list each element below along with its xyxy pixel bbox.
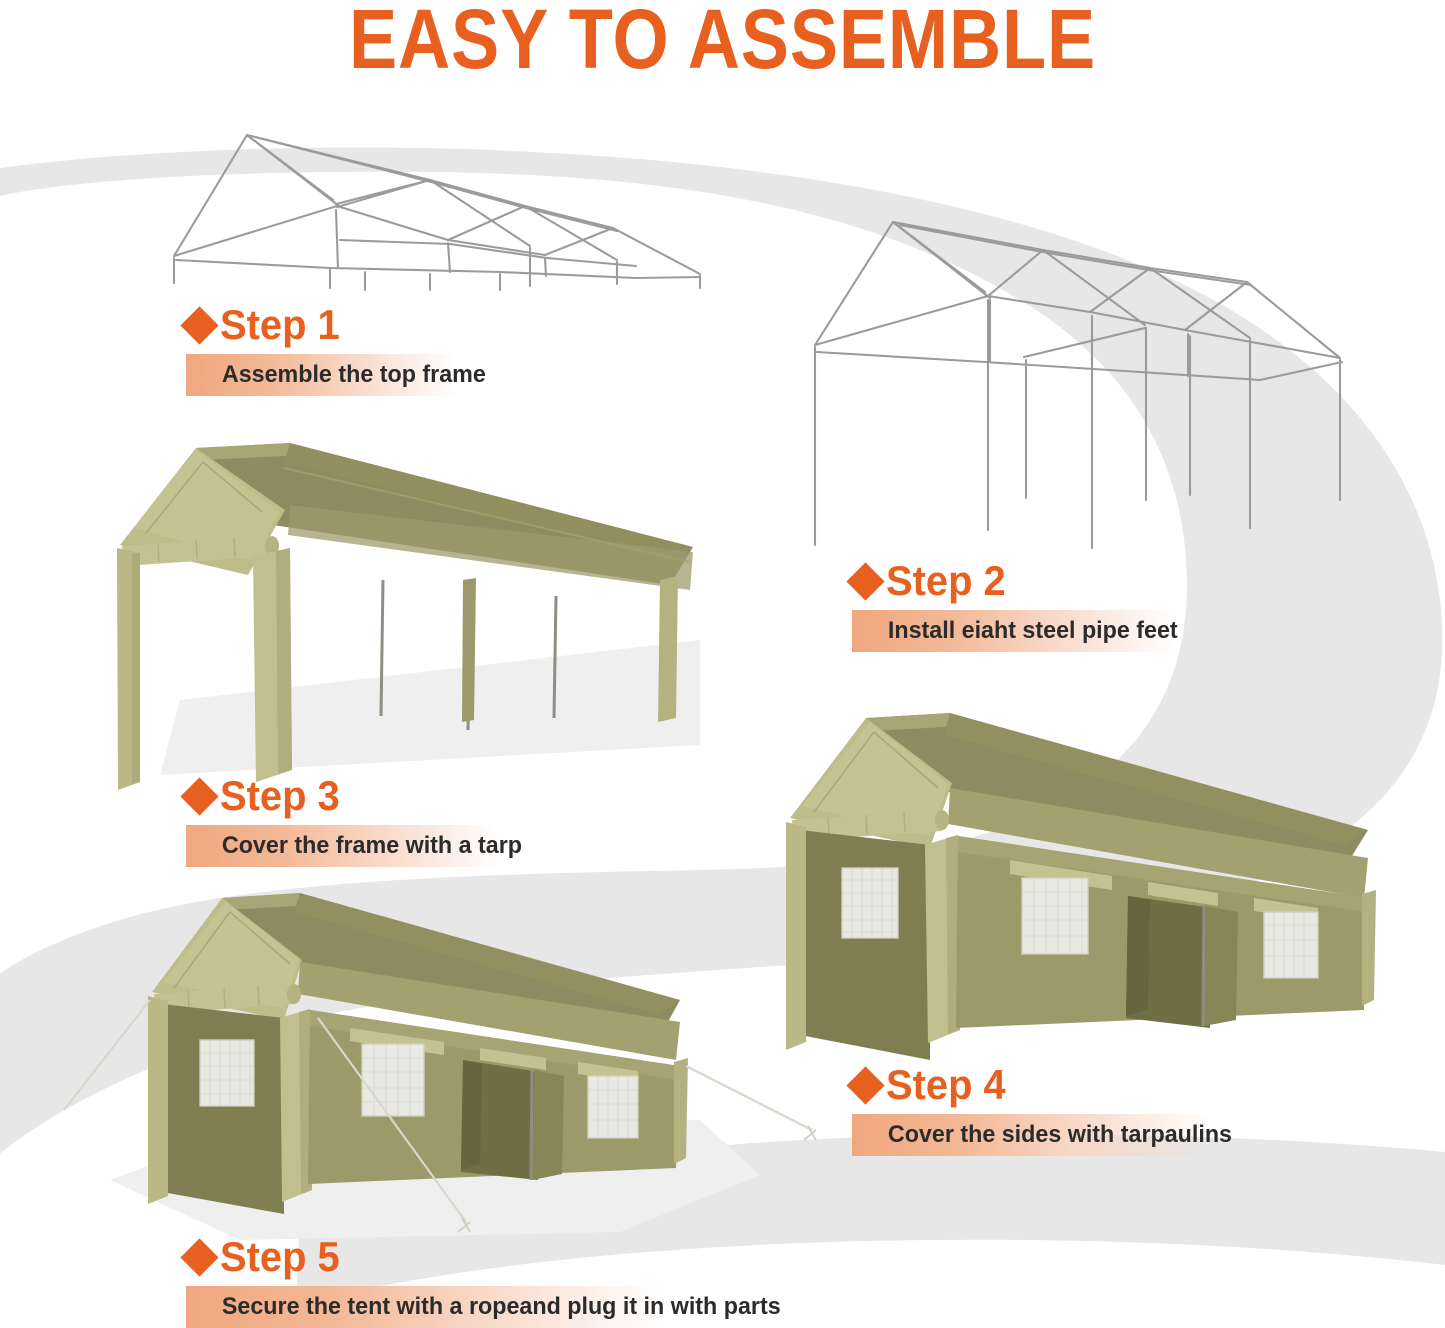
step-2-description: Install eiaht steel pipe feet: [852, 610, 1178, 652]
step-3-title: Step 3: [220, 774, 340, 818]
step-block-2: Step 2 Install eiaht steel pipe feet: [852, 557, 1188, 652]
step-1-title: Step 1: [220, 303, 340, 347]
step-4-heading: Step 4: [852, 1061, 1244, 1109]
step-block-5: Step 5 Secure the tent with a ropeand pl…: [186, 1233, 799, 1328]
infographic-canvas: EASY TO ASSEMBLE Step 1 Assemble the top…: [0, 0, 1445, 1321]
step-1-description: Assemble the top frame: [186, 354, 486, 396]
step-block-1: Step 1 Assemble the top frame: [186, 301, 495, 396]
page-title: EASY TO ASSEMBLE: [101, 0, 1344, 82]
step-1-heading: Step 1: [186, 301, 495, 349]
step-2-description-bar: Install eiaht steel pipe feet: [852, 610, 1188, 652]
step-4-description: Cover the sides with tarpaulins: [852, 1114, 1232, 1156]
step-5-description: Secure the tent with a ropeand plug it i…: [186, 1286, 781, 1328]
step-block-4: Step 4 Cover the sides with tarpaulins: [852, 1061, 1244, 1156]
step-block-3: Step 3 Cover the frame with a tarp: [186, 772, 532, 867]
step-3-heading: Step 3: [186, 772, 532, 820]
diamond-bullet-icon: [180, 1238, 218, 1276]
step-2-heading: Step 2: [852, 557, 1188, 605]
step-3-description: Cover the frame with a tarp: [186, 825, 522, 867]
step-1-description-bar: Assemble the top frame: [186, 354, 495, 396]
step-2-title: Step 2: [886, 559, 1006, 603]
step-5-description-bar: Secure the tent with a ropeand plug it i…: [186, 1286, 799, 1328]
step-3-description-bar: Cover the frame with a tarp: [186, 825, 532, 867]
diamond-bullet-icon: [846, 562, 884, 600]
step-4-title: Step 4: [886, 1063, 1006, 1107]
step-5-heading: Step 5: [186, 1233, 799, 1281]
step-4-description-bar: Cover the sides with tarpaulins: [852, 1114, 1244, 1156]
step-5-title: Step 5: [220, 1235, 340, 1279]
diamond-bullet-icon: [846, 1066, 884, 1104]
diamond-bullet-icon: [180, 306, 218, 344]
diamond-bullet-icon: [180, 777, 218, 815]
